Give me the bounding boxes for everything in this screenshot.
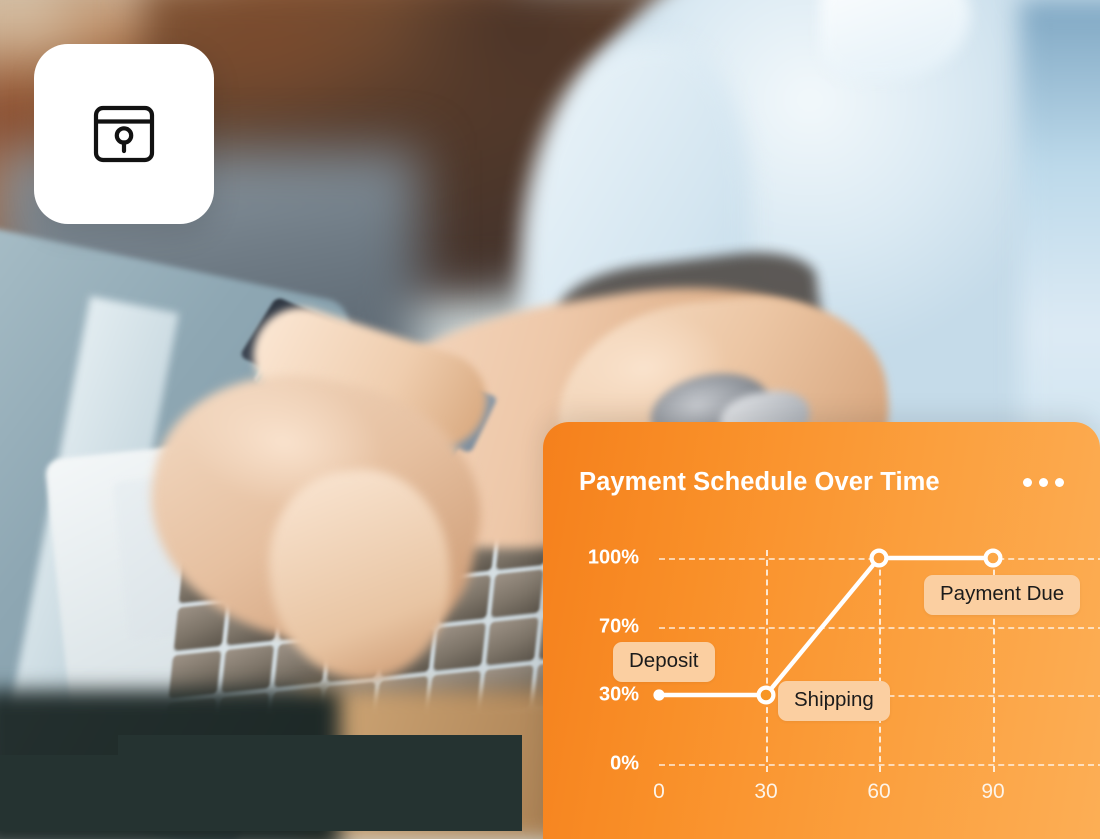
photo-shirt-right-edge	[1020, 0, 1100, 470]
x-tick-0: 0	[653, 780, 665, 804]
chart-plot-area: 100% 70% 30% 0% 0 30 60 90 Deposit Shipp…	[543, 422, 1100, 839]
annotation-pill-payment-due[interactable]: Payment Due	[924, 575, 1080, 615]
x-tick-90: 90	[981, 780, 1004, 804]
secure-payment-icon-card	[34, 44, 214, 224]
x-axis-labels: 0 30 60 90	[543, 422, 1100, 839]
hero-composite: Payment Schedule Over Time	[0, 0, 1100, 839]
annotation-pill-shipping[interactable]: Shipping	[778, 681, 890, 721]
annotation-pill-deposit[interactable]: Deposit	[613, 642, 715, 682]
x-tick-30: 30	[754, 780, 777, 804]
x-tick-60: 60	[867, 780, 890, 804]
teal-band	[0, 755, 522, 831]
secure-browser-lock-icon	[92, 102, 156, 166]
payment-schedule-chart-card: Payment Schedule Over Time	[543, 422, 1100, 839]
